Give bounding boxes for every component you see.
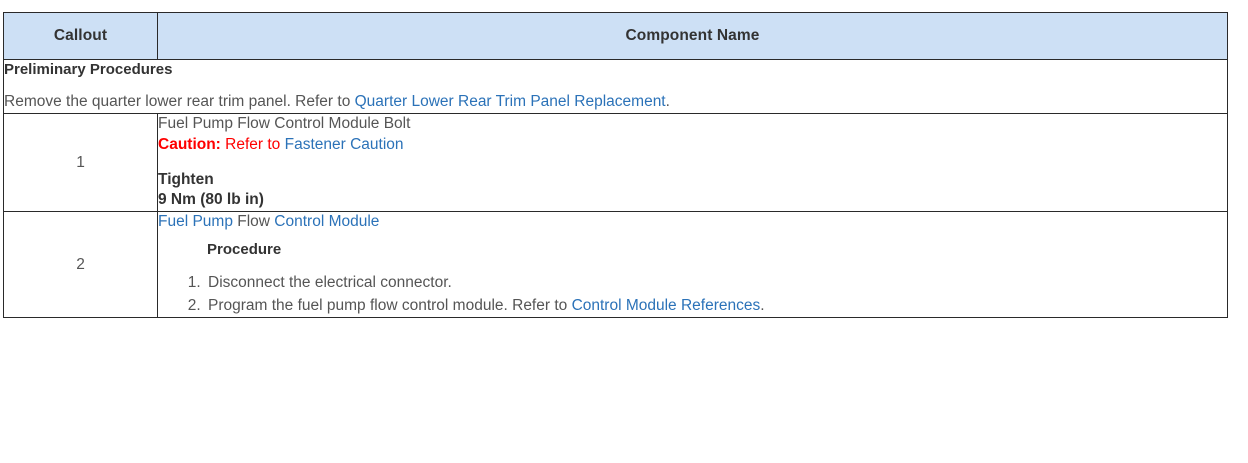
preliminary-procedures-row: Preliminary Procedures Remove the quarte… <box>4 60 1228 114</box>
procedure-step-list: Disconnect the electrical connector. Pro… <box>158 272 1227 317</box>
table-header: Callout Component Name <box>4 13 1228 60</box>
column-header-component-name: Component Name <box>158 13 1228 60</box>
preliminary-procedures-text: Remove the quarter lower rear trim panel… <box>4 92 1227 113</box>
step-1-text: Disconnect the electrical connector. <box>208 274 452 291</box>
tighten-specification: Tighten 9 Nm (80 lb in) <box>158 170 1227 211</box>
callout-number-1: 1 <box>4 114 158 212</box>
list-item: Program the fuel pump flow control modul… <box>205 295 1227 317</box>
link-control-module[interactable]: Control Module <box>274 213 379 230</box>
step-2-text: Program the fuel pump flow control modul… <box>208 297 572 314</box>
preliminary-procedures-title: Preliminary Procedures <box>4 60 1227 80</box>
component-title-2: Fuel Pump Flow Control Module <box>158 212 1227 232</box>
table-body: Preliminary Procedures Remove the quarte… <box>4 60 1228 318</box>
tighten-label: Tighten <box>158 170 1227 191</box>
step-2-text-after: . <box>760 297 764 314</box>
procedure-table-page: Callout Component Name Preliminary Proce… <box>0 0 1248 463</box>
callout-number-2: 2 <box>4 212 158 318</box>
component-cell-2: Fuel Pump Flow Control Module Procedure … <box>158 212 1228 318</box>
column-header-callout: Callout <box>4 13 158 60</box>
torque-value: 9 Nm (80 lb in) <box>158 190 1227 211</box>
component-callout-table: Callout Component Name Preliminary Proce… <box>3 12 1228 318</box>
procedure-heading: Procedure <box>207 240 1227 260</box>
table-row: 2 Fuel Pump Flow Control Module Procedur… <box>4 212 1228 318</box>
preliminary-text-after-link: . <box>666 93 670 110</box>
component-title-1: Fuel Pump Flow Control Module Bolt <box>158 114 1227 134</box>
link-control-module-references[interactable]: Control Module References <box>572 297 761 314</box>
table-row: 1 Fuel Pump Flow Control Module Bolt Cau… <box>4 114 1228 212</box>
component-title-plain-text: Flow <box>233 213 274 230</box>
caution-refer-text: Refer to <box>221 136 285 153</box>
link-fuel-pump[interactable]: Fuel Pump <box>158 213 233 230</box>
list-item: Disconnect the electrical connector. <box>205 272 1227 294</box>
preliminary-text-before-link: Remove the quarter lower rear trim panel… <box>4 93 355 110</box>
header-row: Callout Component Name <box>4 13 1228 60</box>
link-fastener-caution[interactable]: Fastener Caution <box>285 136 404 153</box>
link-quarter-lower-rear-trim-panel-replacement[interactable]: Quarter Lower Rear Trim Panel Replacemen… <box>355 93 666 110</box>
preliminary-procedures-cell: Preliminary Procedures Remove the quarte… <box>4 60 1228 114</box>
component-cell-1: Fuel Pump Flow Control Module Bolt Cauti… <box>158 114 1228 212</box>
caution-note-1: Caution: Refer to Fastener Caution <box>158 135 1227 155</box>
caution-keyword: Caution: <box>158 136 221 153</box>
